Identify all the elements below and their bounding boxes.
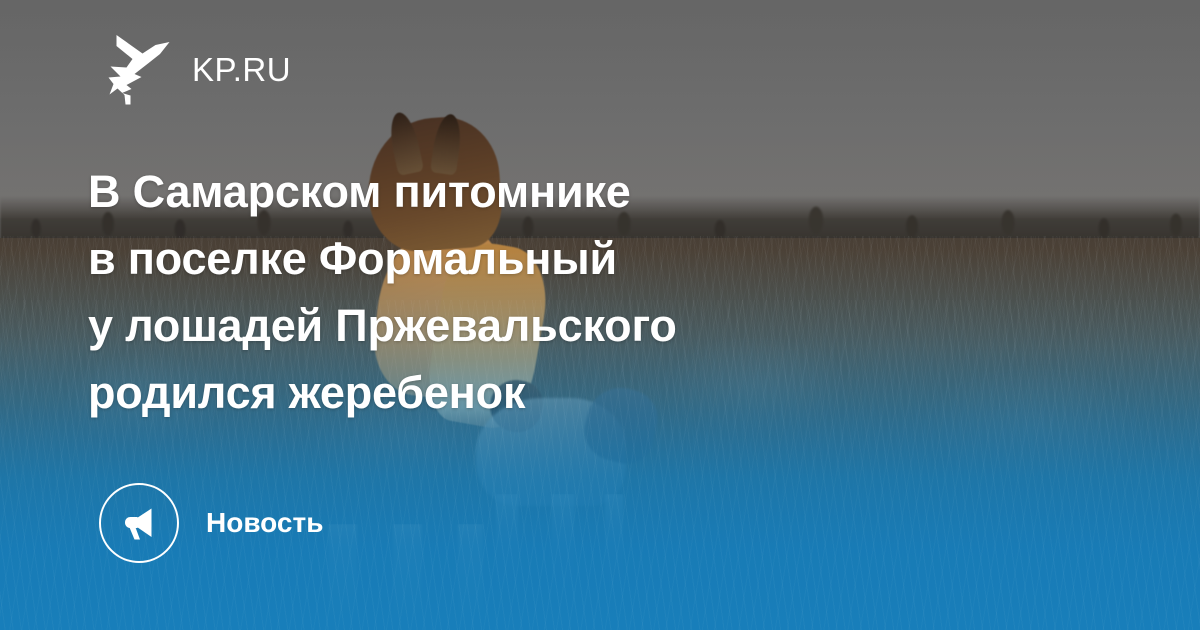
card-content: KP.RU В Самарском питомнике в поселке Фо…	[0, 0, 1200, 630]
content-type-badge[interactable]: Новость	[99, 483, 323, 563]
headline-line-1: В Самарском питомнике	[88, 158, 948, 225]
megaphone-badge	[99, 483, 179, 563]
swallow-bird-icon	[108, 33, 170, 105]
headline-line-4: родился жеребенок	[88, 359, 948, 426]
brand-logo[interactable]: KP.RU	[108, 33, 291, 105]
social-share-card: KP.RU В Самарском питомнике в поселке Фо…	[0, 0, 1200, 630]
megaphone-icon	[119, 503, 159, 543]
page-title: В Самарском питомнике в поселке Формальн…	[88, 158, 948, 426]
brand-name-text: KP.RU	[192, 53, 291, 86]
headline-line-3: у лошадей Пржевальского	[88, 292, 948, 359]
content-type-label: Новость	[206, 509, 323, 537]
headline-line-2: в поселке Формальный	[88, 225, 948, 292]
